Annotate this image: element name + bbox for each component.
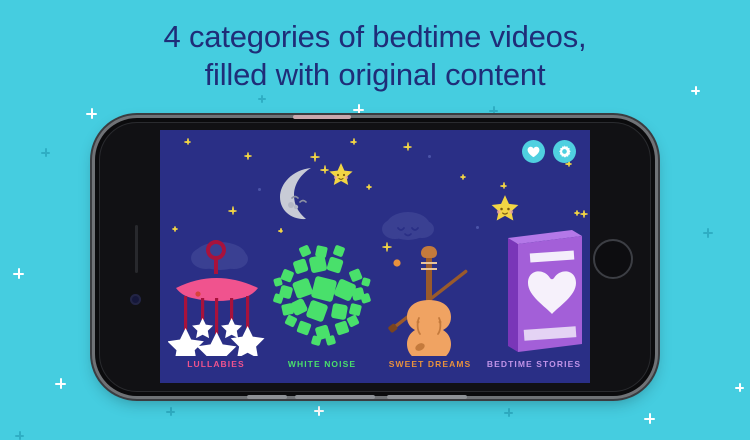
- sparkle-decoration: [644, 413, 655, 424]
- sparkle-decoration: [13, 268, 24, 279]
- home-button[interactable]: [593, 239, 633, 279]
- sparkle-decoration: [41, 148, 50, 157]
- sparkle-decoration: [166, 407, 175, 416]
- power-button[interactable]: [293, 115, 351, 119]
- storybook-icon: [478, 154, 590, 359]
- star-icon: [382, 242, 392, 252]
- category-bedtime-stories[interactable]: BEDTIME STORIES: [478, 154, 590, 383]
- sparkle-decoration: [314, 406, 324, 416]
- silent-switch[interactable]: [247, 395, 287, 399]
- crib-mobile-icon: [162, 154, 270, 359]
- violin-icon: [376, 154, 484, 359]
- star-icon: [580, 210, 588, 218]
- sparkle-decoration: [15, 431, 24, 440]
- sparkle-decoration: [691, 86, 700, 95]
- sparkle-decoration: [353, 104, 364, 115]
- earpiece-speaker: [135, 225, 138, 273]
- sparkle-decoration: [703, 228, 713, 238]
- category-label-white-noise: WHITE NOISE: [268, 359, 376, 383]
- app-screen: LULLABIES: [160, 130, 590, 383]
- sparkle-decoration: [504, 408, 513, 417]
- sparkle-decoration: [735, 383, 744, 392]
- category-label-bedtime-stories: BEDTIME STORIES: [478, 359, 590, 383]
- category-label-lullabies: LULLABIES: [162, 359, 270, 383]
- sparkle-decoration: [86, 108, 97, 119]
- category-label-sweet-dreams: SWEET DREAMS: [376, 359, 484, 383]
- page-title: 4 categories of bedtime videos, filled w…: [0, 18, 750, 94]
- sparkle-decoration: [489, 106, 498, 115]
- category-white-noise[interactable]: WHITE NOISE: [268, 154, 376, 383]
- smiling-star-icon: [490, 194, 520, 224]
- phone-device: LULLABIES: [95, 118, 655, 396]
- volume-up-button[interactable]: [295, 395, 375, 399]
- promo-slide: 4 categories of bedtime videos, filled w…: [0, 0, 750, 422]
- category-lullabies[interactable]: LULLABIES: [162, 154, 270, 383]
- volume-down-button[interactable]: [387, 395, 467, 399]
- sparkle-decoration: [55, 378, 66, 389]
- sound-orb-icon: [268, 154, 376, 359]
- category-row: LULLABIES: [160, 130, 590, 383]
- category-sweet-dreams[interactable]: SWEET DREAMS: [376, 154, 484, 383]
- sparkle-decoration: [258, 95, 266, 103]
- front-camera: [130, 294, 141, 305]
